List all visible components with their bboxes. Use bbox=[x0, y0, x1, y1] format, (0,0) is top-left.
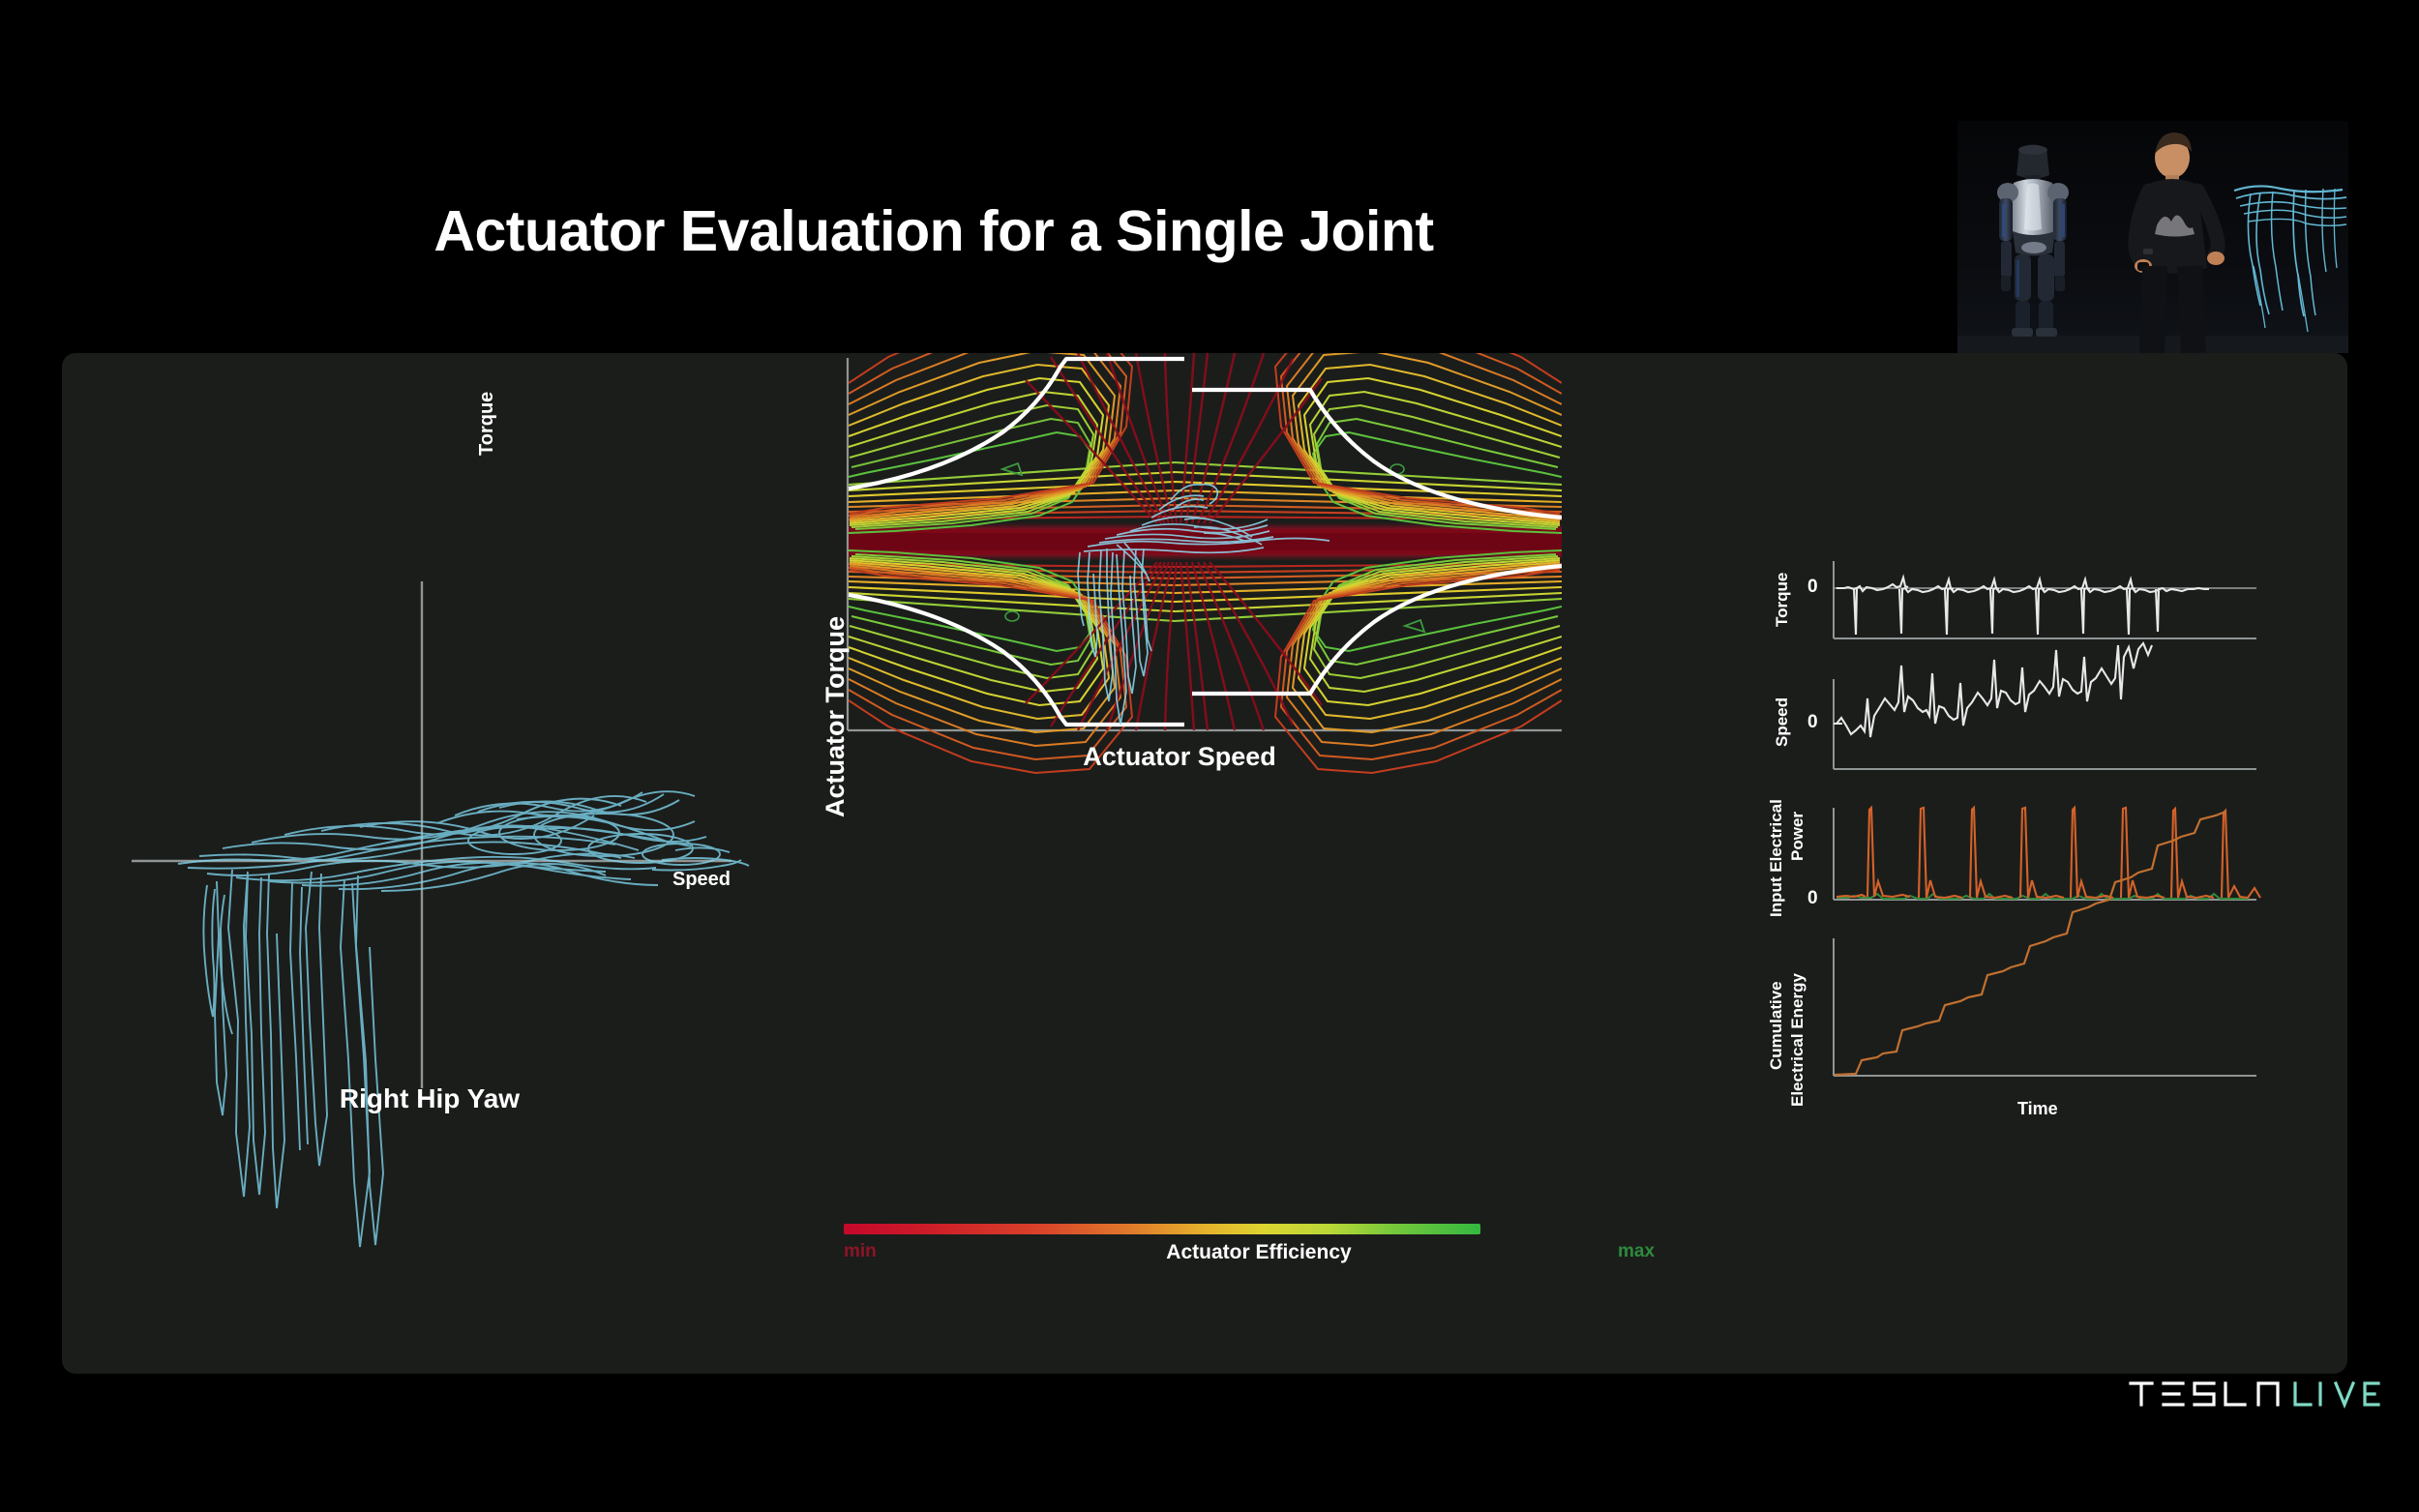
mini-label-cumulative-energy-line1: Cumulative bbox=[1767, 981, 1786, 1070]
mini-label-input-electrical-power-line2: Power bbox=[1788, 812, 1807, 861]
right-x-axis-label: Time bbox=[2017, 1099, 2058, 1119]
tesla-live-logo bbox=[2129, 1379, 2380, 1408]
live-wordmark bbox=[2295, 1383, 2378, 1405]
actuator-efficiency-map: Actuator Torque Actuator Speed bbox=[797, 353, 1562, 1374]
left-x-axis-label: Speed bbox=[672, 869, 731, 891]
page-title: Actuator Evaluation for a Single Joint bbox=[0, 198, 1867, 264]
speed-vs-time-plot bbox=[1834, 643, 2256, 769]
mini-label-speed: Speed bbox=[1773, 697, 1792, 747]
mini-label-input-electrical-power-line1: Input Electrical bbox=[1767, 799, 1786, 917]
input-electrical-power-plot bbox=[1834, 808, 2260, 900]
joint-trajectory-plot: Torque Speed Right Hip Yaw bbox=[62, 353, 797, 1374]
video-frame bbox=[1957, 121, 2348, 353]
efficiency-contour-svg bbox=[797, 353, 1562, 1374]
left-y-axis-label: Torque bbox=[476, 392, 498, 456]
center-x-axis-label: Actuator Speed bbox=[797, 742, 1562, 772]
center-y-axis-label: Actuator Torque bbox=[821, 616, 851, 817]
cumulative-electrical-energy-plot bbox=[1834, 812, 2256, 1076]
efficiency-contours bbox=[849, 353, 1562, 773]
colorbar-title: Actuator Efficiency bbox=[844, 1241, 1674, 1264]
mini-label-cumulative-energy-line2: Electrical Energy bbox=[1788, 973, 1807, 1107]
torque-vs-time-plot bbox=[1834, 561, 2256, 638]
power-zero-label: 0 bbox=[1807, 888, 1818, 909]
joint-trajectory-svg bbox=[62, 353, 797, 1374]
speed-zero-label: 0 bbox=[1807, 712, 1818, 733]
logo-svg bbox=[2129, 1379, 2380, 1411]
torque-zero-label: 0 bbox=[1807, 577, 1818, 598]
left-panel-caption: Right Hip Yaw bbox=[62, 1083, 797, 1114]
timeseries-stack: Torque 0 Speed 0 Input Electrical Power … bbox=[1761, 561, 2351, 1200]
efficiency-colorbar bbox=[844, 1224, 1480, 1234]
presentation-video-pip[interactable] bbox=[1957, 121, 2348, 353]
slide-canvas: Actuator Evaluation for a Single Joint bbox=[0, 0, 2419, 1512]
mini-label-torque: Torque bbox=[1773, 573, 1792, 627]
tesla-wordmark bbox=[2131, 1383, 2278, 1405]
